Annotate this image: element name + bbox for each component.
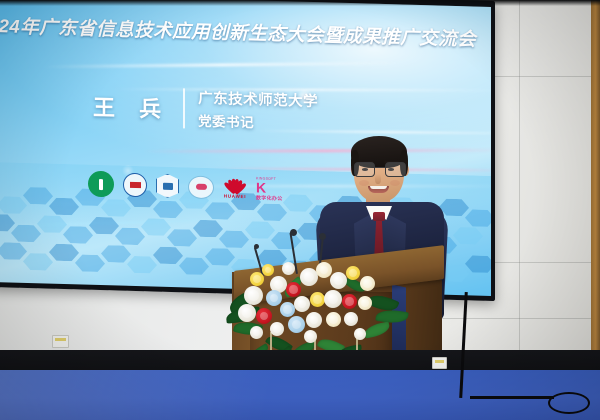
flower-arrangement	[226, 246, 416, 366]
flower-bloom	[288, 316, 305, 333]
flower-bloom	[282, 262, 295, 275]
logo-huawei-icon: HUAWEI	[223, 174, 247, 201]
wall-seam	[492, 262, 594, 263]
speaker-name: 王 兵	[93, 89, 170, 123]
flower-bloom	[286, 282, 301, 297]
right-cheek	[390, 180, 400, 186]
floor-light-sheen	[0, 370, 600, 420]
flower-bloom	[294, 296, 310, 312]
glasses-bridge	[373, 167, 385, 168]
speaker-affiliation: 广东技术师范大学 党委书记	[198, 87, 318, 133]
flower-bloom	[238, 304, 256, 322]
wall-power-outlet[interactable]	[52, 335, 69, 348]
right-lens	[385, 162, 406, 177]
kingsoft-sub-label: 数字化办公	[256, 194, 283, 202]
kingsoft-k-mark: K	[256, 180, 265, 194]
left-lens	[354, 162, 375, 177]
sponsor-logo-row: HUAWEI KINGSOFT K 数字化办公	[88, 171, 283, 202]
teeth	[370, 186, 387, 189]
wall-power-outlet[interactable]	[432, 357, 447, 369]
flower-bloom	[358, 296, 372, 310]
floor-cable	[470, 396, 554, 399]
wall-baseboard	[0, 350, 600, 372]
microphone-head	[290, 229, 297, 236]
flower-bloom	[310, 292, 325, 307]
photograph-scene: 2024年广东省信息技术应用创新生态大会暨成果推广交流会 王 兵 广东技术师范大…	[0, 0, 600, 420]
nose	[375, 174, 381, 184]
flower-bloom	[270, 322, 284, 336]
flower-bloom	[266, 290, 282, 306]
logo-green-circle-icon	[88, 171, 114, 198]
flower-bloom	[360, 276, 375, 291]
logo-blue-ring-icon	[123, 172, 147, 199]
flower-bloom	[330, 272, 347, 289]
flower-bloom	[280, 302, 295, 317]
floor-cable-loop	[548, 392, 590, 414]
flower-bloom	[250, 272, 264, 286]
flower-bloom	[304, 330, 317, 343]
speaker-role: 党委书记	[198, 110, 318, 133]
microphone-head	[319, 233, 326, 240]
divider-rule	[183, 88, 185, 128]
wall-seam	[492, 76, 594, 77]
huawei-wordmark: HUAWEI	[224, 193, 247, 199]
flower-bloom	[306, 312, 322, 328]
foliage-leaf	[363, 321, 391, 338]
wall-seam	[519, 0, 520, 398]
flower-bloom	[244, 286, 263, 305]
flower-bloom	[250, 326, 263, 339]
speaker-organization: 广东技术师范大学	[198, 87, 318, 111]
logo-kingsoft-icon: KINGSOFT K 数字化办公	[256, 175, 283, 202]
flower-bloom	[316, 262, 332, 278]
logo-shield-icon	[156, 173, 179, 200]
flower-bloom	[256, 308, 272, 324]
flower-bloom	[326, 312, 341, 327]
image-top-shadow	[0, 0, 600, 6]
logo-cloud-icon	[188, 173, 214, 200]
flower-bloom	[342, 294, 357, 309]
flower-bloom	[324, 290, 342, 308]
flower-bloom	[354, 328, 366, 340]
speaker-identity-block: 王 兵 广东技术师范大学 党委书记	[93, 84, 318, 133]
flower-bloom	[262, 264, 274, 276]
flower-bloom	[344, 312, 358, 326]
necktie-knot	[373, 212, 385, 221]
flower-bloom	[346, 266, 360, 280]
